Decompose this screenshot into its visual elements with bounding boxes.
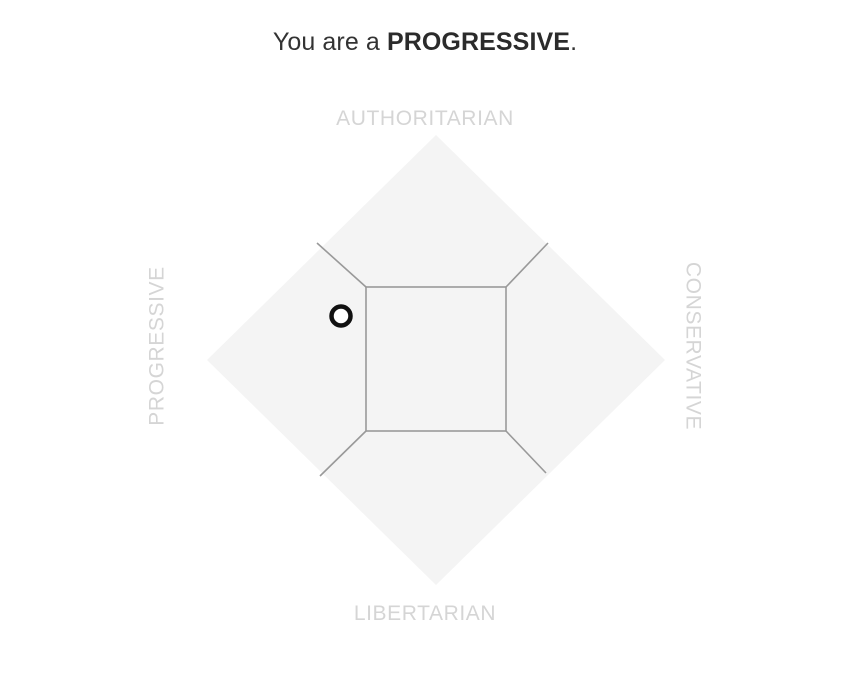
user-position-marker[interactable] (332, 307, 351, 326)
axis-label-libertarian: LIBERTARIAN (0, 603, 850, 624)
outer-diamond (207, 135, 665, 585)
axis-label-progressive: PROGRESSIVE (147, 266, 168, 425)
political-compass-chart: AUTHORITARIAN LIBERTARIAN PROGRESSIVE CO… (0, 0, 850, 692)
axis-label-authoritarian: AUTHORITARIAN (0, 108, 850, 129)
compass-svg (0, 0, 850, 692)
axis-label-conservative: CONSERVATIVE (683, 262, 704, 430)
